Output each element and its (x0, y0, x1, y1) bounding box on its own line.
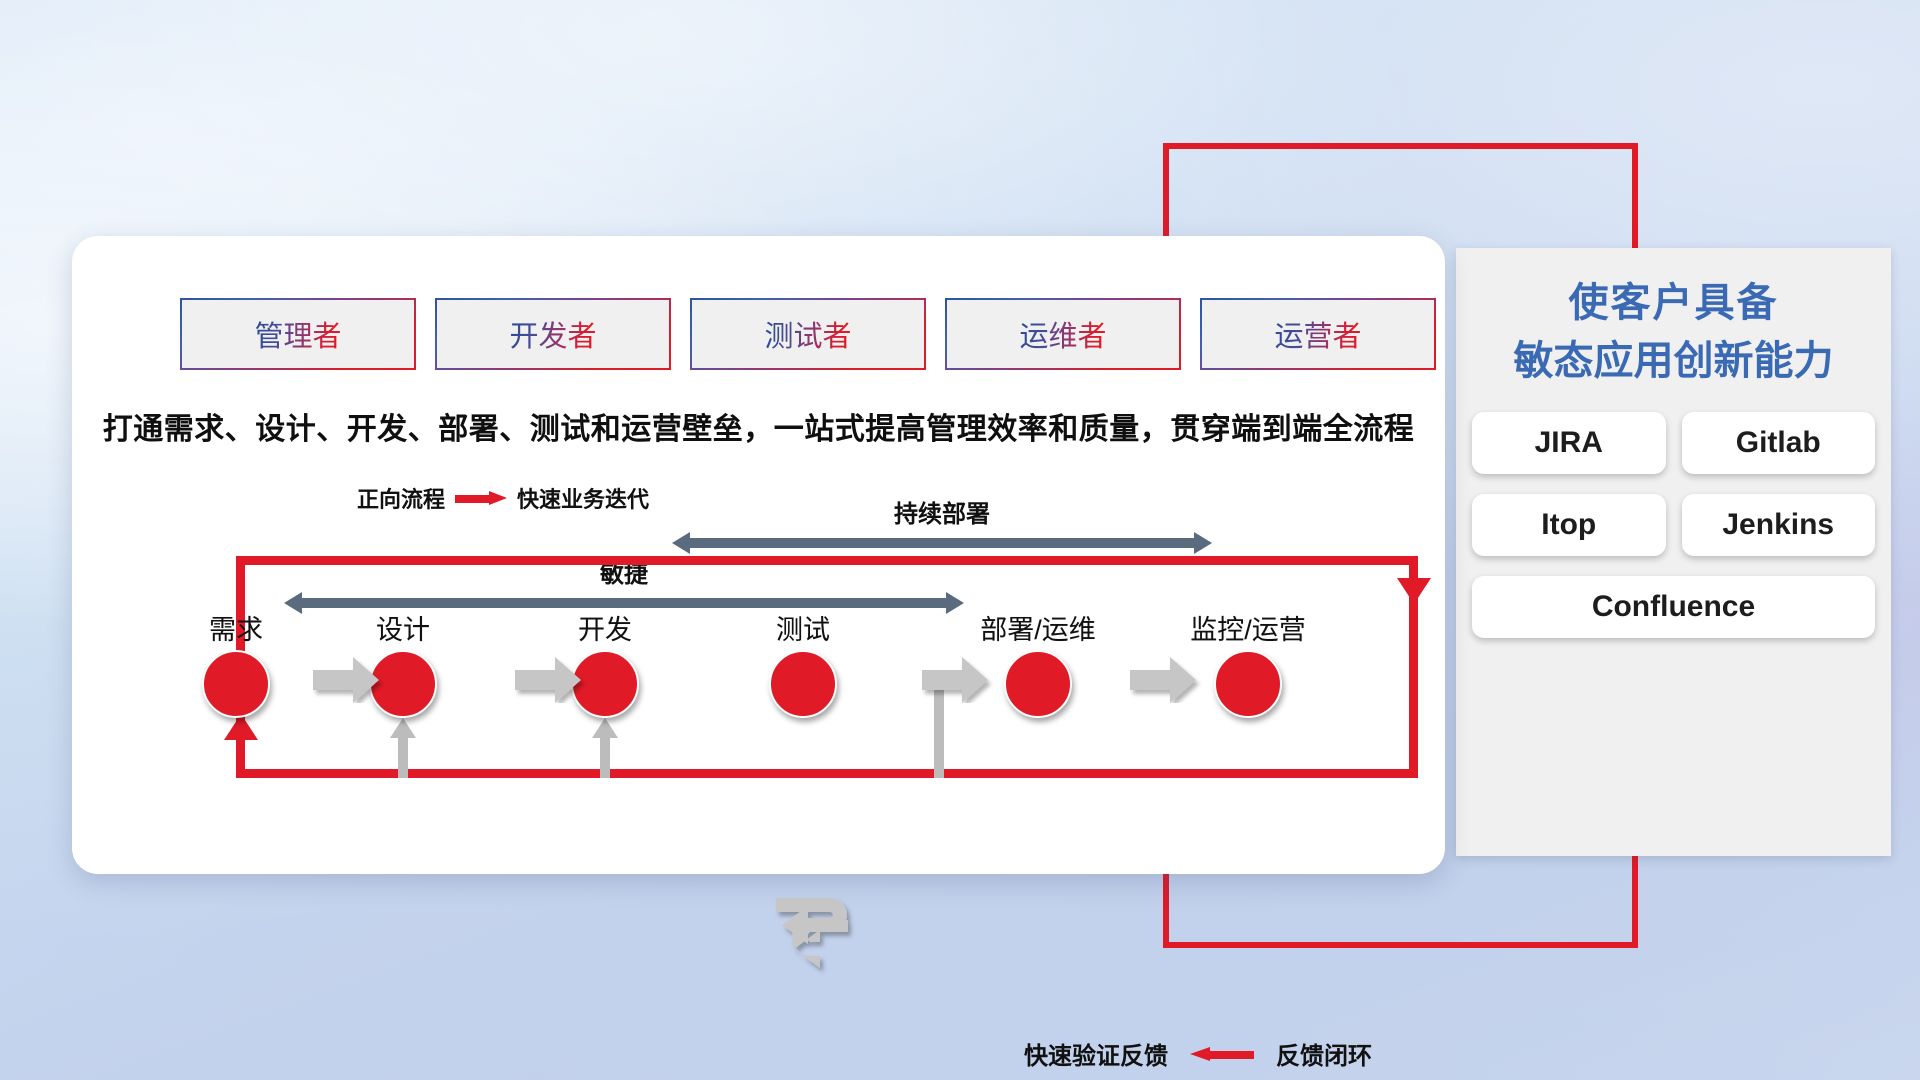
red-loop-top (236, 556, 1418, 565)
arrow-right-icon (455, 491, 507, 505)
arrow-left-icon (1190, 1047, 1254, 1061)
legend-forward-right-text: 快速业务迭代 (517, 482, 649, 514)
stage-requirement[interactable]: 需求 (172, 608, 300, 718)
role-box-manager[interactable]: 管理者 (182, 300, 414, 368)
tool-chip-list: JIRA Gitlab Itop Jenkins Confluence (1456, 396, 1891, 638)
card-description: 打通需求、设计、开发、部署、测试和运营壁垒，一站式提高管理效率和质量，贯穿端到端… (72, 404, 1445, 448)
tool-chip-row: JIRA Gitlab (1472, 412, 1875, 474)
tools-panel-title-line1: 使客户具备 (1466, 274, 1881, 332)
stage-label: 开发 (541, 608, 669, 647)
stage-circle (1004, 650, 1072, 718)
tools-panel-title-line2: 敏态应用创新能力 (1466, 332, 1881, 390)
tools-panel-title: 使客户具备 敏态应用创新能力 (1456, 248, 1891, 396)
role-box-tester[interactable]: 测试者 (692, 300, 924, 368)
red-loop-arrow-down-icon (1397, 578, 1431, 604)
feedback-stem-head-design-icon (390, 718, 416, 738)
legend-forward-flow: 正向流程 快速业务迭代 (357, 482, 649, 514)
role-label: 运维者 (1019, 313, 1106, 355)
role-label: 管理者 (254, 313, 341, 355)
stage-test[interactable]: 测试 (739, 608, 867, 718)
stage-label: 需求 (172, 608, 300, 647)
tool-chip-gitlab[interactable]: Gitlab (1682, 412, 1876, 474)
role-box-list: 管理者 开发者 测试者 运维者 运营者 (182, 300, 1434, 368)
role-box-operations[interactable]: 运营者 (1202, 300, 1434, 368)
loop-uturn-icon (774, 884, 866, 976)
red-loop-stem-left (236, 736, 245, 778)
stage-circle (202, 650, 270, 718)
role-label: 运营者 (1274, 313, 1361, 355)
tool-chip-row: Confluence (1472, 576, 1875, 638)
main-card: 管理者 开发者 测试者 运维者 运营者 打通需求、设计、开发、部署、测试和运营壁… (72, 236, 1445, 874)
legend-forward-left-text: 正向流程 (357, 482, 445, 514)
legend-feedback-right-text: 反馈闭环 (1276, 1036, 1372, 1071)
stage-label: 部署/运维 (948, 608, 1128, 647)
flow-arrow-icon (515, 657, 587, 703)
feedback-stem-develop (600, 736, 610, 778)
flow-arrow-icon (922, 657, 994, 703)
stage-label: 测试 (739, 608, 867, 647)
span-arrow-label: 持续部署 (672, 494, 1212, 529)
stage-circle (769, 650, 837, 718)
tool-chip-itop[interactable]: Itop (1472, 494, 1666, 556)
red-loop-bottom (236, 769, 1418, 778)
role-label: 测试者 (764, 313, 851, 355)
tool-chip-confluence[interactable]: Confluence (1472, 576, 1875, 638)
span-arrow-continuous-deployment: 持续部署 (672, 532, 1212, 554)
tool-chip-jenkins[interactable]: Jenkins (1682, 494, 1876, 556)
role-box-developer[interactable]: 开发者 (437, 300, 669, 368)
tool-chip-row: Itop Jenkins (1472, 494, 1875, 556)
legend-feedback-left-text: 快速验证反馈 (1024, 1036, 1168, 1071)
legend-feedback-loop: 快速验证反馈 反馈闭环 (1024, 1036, 1372, 1071)
flow-arrow-icon (313, 657, 385, 703)
tools-panel: 使客户具备 敏态应用创新能力 JIRA Gitlab Itop Jenkins … (1456, 248, 1891, 856)
feedback-stem-head-develop-icon (592, 718, 618, 738)
flow-arrow-icon (1130, 657, 1202, 703)
role-label: 开发者 (509, 313, 596, 355)
role-box-ops[interactable]: 运维者 (947, 300, 1179, 368)
tool-chip-jira[interactable]: JIRA (1472, 412, 1666, 474)
stage-label: 监控/运营 (1158, 608, 1338, 647)
stage-label: 设计 (339, 608, 467, 647)
stage-circle (1214, 650, 1282, 718)
feedback-stem-design (398, 736, 408, 778)
